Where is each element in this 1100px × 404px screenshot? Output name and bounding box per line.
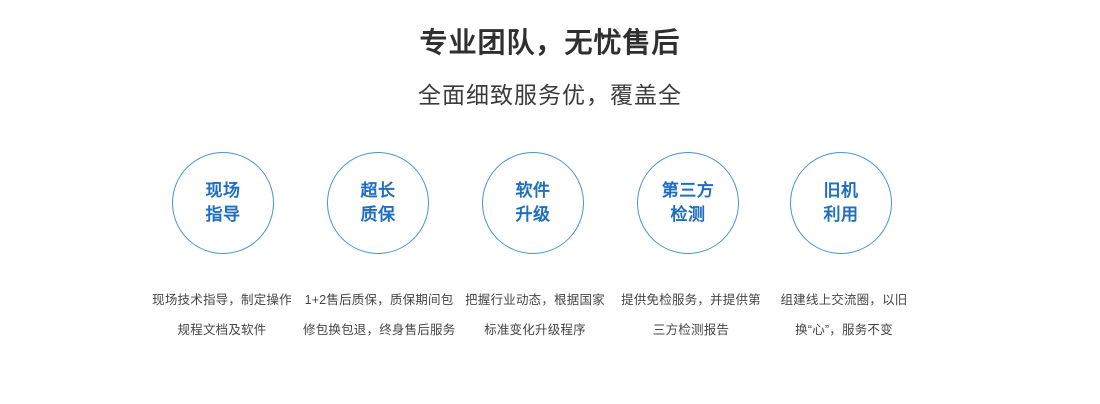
circle-label-line1: 现场 — [206, 179, 241, 203]
caption-line1: 组建线上交流圈，以旧 — [768, 285, 920, 315]
feature-circle-1[interactable]: 现场 指导 — [172, 152, 274, 254]
caption-line1: 把握行业动态，根据国家 — [459, 285, 611, 315]
feature-circle-4[interactable]: 第三方 检测 — [637, 152, 739, 254]
circle-outline: 旧机 利用 — [790, 152, 892, 254]
section-heading: 专业团队，无忧售后 全面细致服务优，覆盖全 — [0, 24, 1100, 112]
feature-circle-2[interactable]: 超长 质保 — [327, 152, 429, 254]
circle-label-line2: 指导 — [206, 203, 241, 227]
caption-line2: 标准变化升级程序 — [459, 315, 611, 345]
circle-label-line1: 第三方 — [662, 179, 715, 203]
feature-circle-5[interactable]: 旧机 利用 — [790, 152, 892, 254]
caption-line2: 修包换包退，终身售后服务 — [303, 315, 455, 345]
circle-label-line2: 利用 — [824, 203, 859, 227]
circle-outline: 第三方 检测 — [637, 152, 739, 254]
page-subtitle: 全面细致服务优，覆盖全 — [0, 78, 1100, 112]
feature-caption-3: 把握行业动态，根据国家 标准变化升级程序 — [459, 285, 611, 345]
circle-label-line1: 旧机 — [824, 179, 859, 203]
feature-circles-row: 现场 指导 超长 质保 软件 升级 第三方 检测 旧机 — [172, 152, 894, 254]
caption-line2: 三方检测报告 — [615, 315, 767, 345]
feature-caption-5: 组建线上交流圈，以旧 换“心”，服务不变 — [768, 285, 920, 345]
caption-line2: 换“心”，服务不变 — [768, 315, 920, 345]
caption-line1: 现场技术指导，制定操作 — [146, 285, 298, 315]
circle-label-line1: 软件 — [516, 179, 551, 203]
circle-label-line2: 升级 — [516, 203, 551, 227]
circle-label-line1: 超长 — [361, 179, 396, 203]
circle-label-line2: 检测 — [671, 203, 706, 227]
page-title: 专业团队，无忧售后 — [0, 24, 1100, 62]
feature-caption-1: 现场技术指导，制定操作 规程文档及软件 — [146, 285, 298, 345]
feature-captions-row: 现场技术指导，制定操作 规程文档及软件 1+2售后质保，质保期间包 修包换包退，… — [146, 285, 936, 345]
feature-caption-4: 提供免检服务，并提供第 三方检测报告 — [615, 285, 767, 345]
feature-circle-3[interactable]: 软件 升级 — [482, 152, 584, 254]
caption-line1: 提供免检服务，并提供第 — [615, 285, 767, 315]
circle-outline: 现场 指导 — [172, 152, 274, 254]
service-promise-section: 专业团队，无忧售后 全面细致服务优，覆盖全 现场 指导 超长 质保 软件 升级 … — [0, 0, 1100, 404]
circle-label-line2: 质保 — [361, 203, 396, 227]
caption-line2: 规程文档及软件 — [146, 315, 298, 345]
circle-outline: 超长 质保 — [327, 152, 429, 254]
caption-line1: 1+2售后质保，质保期间包 — [303, 285, 455, 315]
circle-outline: 软件 升级 — [482, 152, 584, 254]
feature-caption-2: 1+2售后质保，质保期间包 修包换包退，终身售后服务 — [303, 285, 455, 345]
